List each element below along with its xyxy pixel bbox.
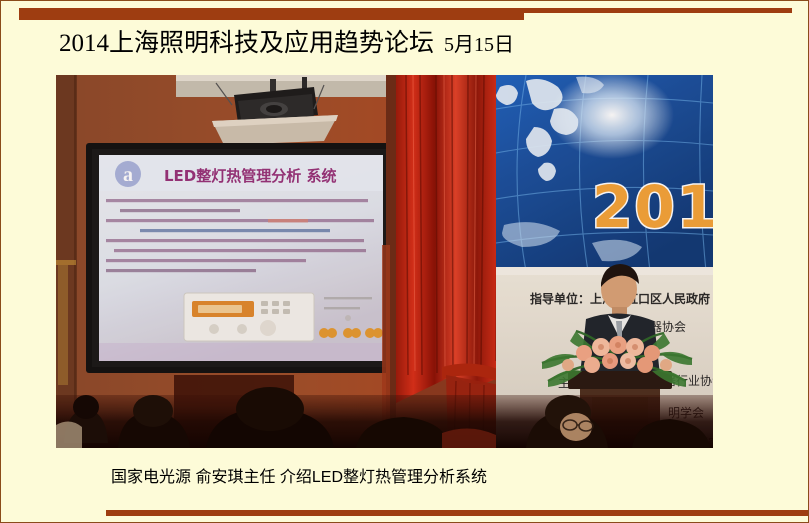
conference-photo-image: a LED整灯热管理分析 系统 xyxy=(56,75,713,448)
bottom-accent-bar xyxy=(106,510,809,516)
top-accent-bar-thin xyxy=(524,8,792,13)
page-title-main: 2014上海照明科技及应用趋势论坛 xyxy=(59,30,434,57)
presentation-slide: 2014上海照明科技及应用趋势论坛5月15日 xyxy=(0,0,809,523)
page-title: 2014上海照明科技及应用趋势论坛5月15日 xyxy=(59,28,514,61)
page-title-date: 5月15日 xyxy=(434,34,514,56)
top-accent-bar-thick xyxy=(19,8,524,20)
conference-photo: a LED整灯热管理分析 系统 xyxy=(56,75,713,448)
photo-caption: 国家电光源 俞安琪主任 介绍LED整灯热管理分析系统 xyxy=(111,467,487,489)
